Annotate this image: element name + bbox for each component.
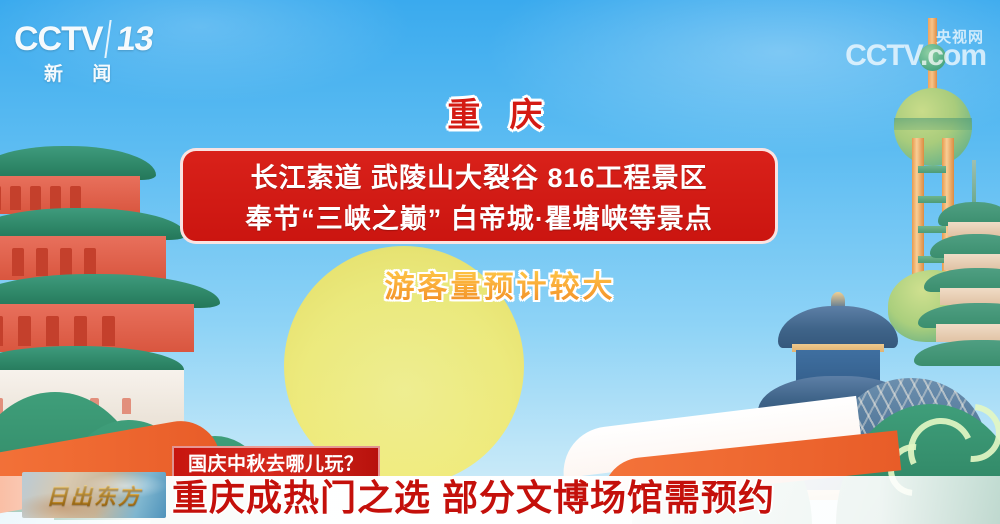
attraction-line: 长江索道 武陵山大裂谷 816工程景区 [250, 156, 707, 195]
headline-text: 重庆成热门之选 部分文博场馆需预约 [172, 469, 775, 521]
cctv-logo-text: CCTV [14, 20, 103, 58]
program-logo-text: 日出东方 [46, 479, 142, 511]
broadcast-screen: CCTV 13 新 闻 央视网 CCTV.com 重 庆 长江索道 武陵山大裂谷… [0, 0, 1000, 524]
page-title: 重 庆 [0, 88, 1000, 136]
program-logo: 日出东方 [22, 472, 166, 518]
cctv-channel-logo: CCTV 13 新 闻 [14, 20, 164, 86]
cctv-logo-number: 13 [104, 20, 155, 58]
cctv-logo-subtitle: 新 闻 [44, 59, 164, 86]
attractions-card: 长江索道 武陵山大裂谷 816工程景区 奉节“三峡之巅” 白帝城·瞿塘峡等景点 [180, 148, 778, 244]
visitor-volume-note: 游客量预计较大 [0, 262, 1000, 306]
attraction-line: 奉节“三峡之巅” 白帝城·瞿塘峡等景点 [245, 197, 713, 236]
cctv-logo-main: CCTV 13 [14, 20, 164, 58]
